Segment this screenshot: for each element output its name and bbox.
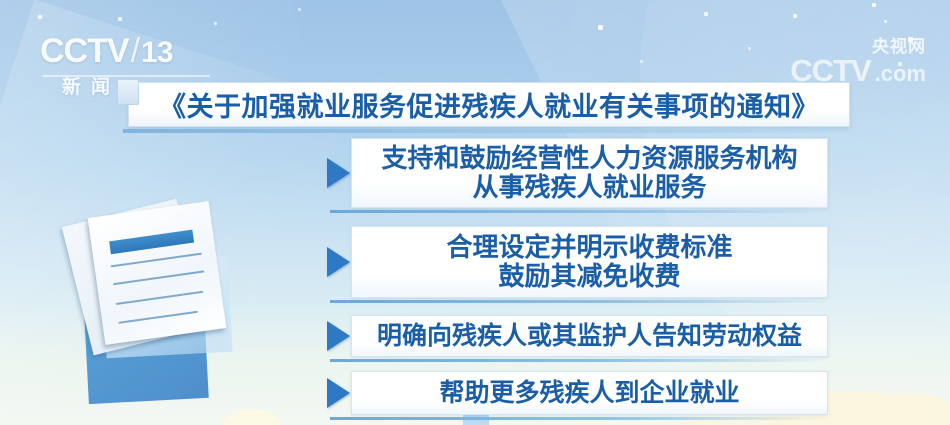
play-triangle-icon — [327, 158, 351, 188]
list-item: 支持和鼓励经营性人力资源服务机构 从事残疾人就业服务 — [327, 138, 828, 208]
list-item: 合理设定并明示收费标准 鼓励其减免收费 — [327, 226, 828, 298]
bullet-line-1: 帮助更多残疾人到企业就业 — [439, 379, 739, 407]
bullet-line-1: 明确向残疾人或其监护人告知劳动权益 — [377, 322, 802, 350]
play-triangle-icon — [327, 247, 351, 277]
bullet-line-2: 鼓励其减免收费 — [498, 262, 680, 291]
play-triangle-icon — [327, 378, 351, 408]
bullet-list: 支持和鼓励经营性人力资源服务机构 从事残疾人就业服务 合理设定并明示收费标准 鼓… — [0, 0, 950, 425]
bullet-plate: 明确向残疾人或其监护人告知劳动权益 — [351, 315, 828, 357]
list-item: 帮助更多残疾人到企业就业 — [327, 371, 828, 415]
bullet-line-1: 支持和鼓励经营性人力资源服务机构 — [381, 144, 797, 173]
bullet-plate: 支持和鼓励经营性人力资源服务机构 从事残疾人就业服务 — [351, 138, 828, 208]
bullet-line-2: 从事残疾人就业服务 — [472, 173, 706, 202]
broadcast-graphic-canvas: CCTV/13 新闻 央视网 CCTV .com 《关于加强就业服务促进残疾人就… — [0, 0, 950, 425]
list-item: 明确向残疾人或其监护人告知劳动权益 — [327, 315, 828, 357]
bullet-line-1: 合理设定并明示收费标准 — [446, 233, 732, 262]
bullet-plate: 合理设定并明示收费标准 鼓励其减免收费 — [351, 226, 828, 298]
bullet-plate: 帮助更多残疾人到企业就业 — [351, 371, 828, 415]
play-triangle-icon — [327, 321, 351, 351]
